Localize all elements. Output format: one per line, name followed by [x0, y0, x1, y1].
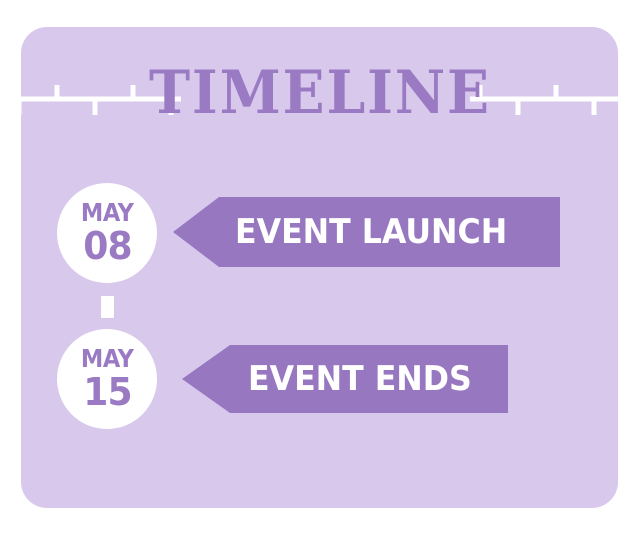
timeline-infographic: TIMELINE MAY 08 EVENT LAUNCH MAY 15 EVEN…	[0, 0, 640, 536]
date-day-label: 15	[83, 372, 131, 412]
event-banner-label: EVENT ENDS	[248, 362, 472, 396]
date-month-label: MAY	[81, 200, 134, 225]
date-month-label: MAY	[81, 346, 134, 371]
event-banner-label: EVENT LAUNCH	[235, 215, 507, 249]
event-banner-event-launch[interactable]: EVENT LAUNCH	[173, 197, 560, 267]
date-bubble-event-launch[interactable]: MAY 08	[57, 183, 157, 283]
page-title: TIMELINE	[26, 59, 615, 127]
event-banner-event-ends[interactable]: EVENT ENDS	[182, 345, 508, 413]
timeline-connector-dash	[101, 296, 114, 318]
date-bubble-event-ends[interactable]: MAY 15	[57, 329, 157, 429]
date-day-label: 08	[83, 226, 131, 266]
